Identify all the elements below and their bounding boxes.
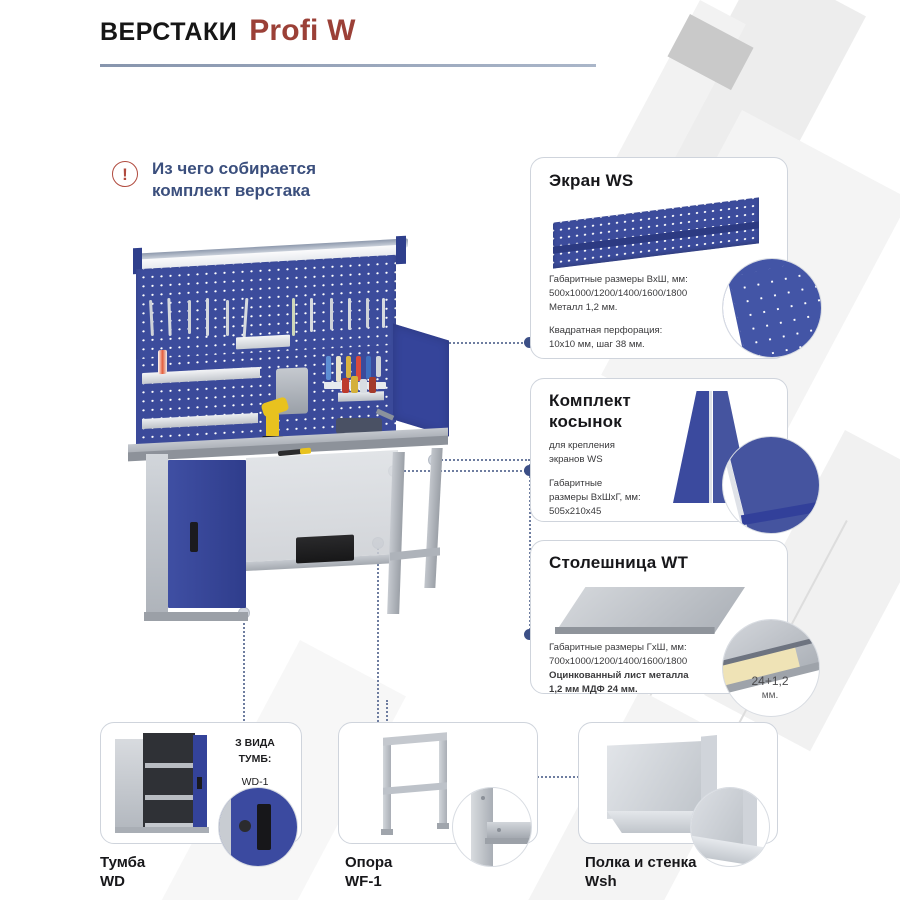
- page-header: ВЕРСТАКИ Profi W: [100, 14, 356, 48]
- spec-line: Габаритные размеры ВхШ, мм:: [549, 273, 688, 287]
- leg-joint-detail-circle: [452, 787, 532, 867]
- spec-line: размеры ВхШхГ, мм:: [549, 491, 641, 505]
- spec-line: 10х10 мм, шаг 38 мм.: [549, 338, 688, 352]
- leg-label-line1: Опора: [345, 854, 392, 873]
- shelf-label-line2: Wsh: [585, 873, 696, 892]
- spec-line: для крепления: [549, 439, 615, 453]
- worktop-detail-caption-2: мм.: [722, 690, 818, 701]
- page-title-main: ВЕРСТАКИ: [100, 18, 237, 47]
- workbench-illustration: [128, 240, 458, 670]
- bench-cabinet-lock: [190, 522, 198, 552]
- section-heading-line1: Из чего собирается: [152, 158, 316, 180]
- cabinet-illustration: [115, 733, 221, 833]
- tool-case: [296, 534, 354, 563]
- tool-screwdriver-handle: [300, 448, 311, 455]
- tool-bottles: [342, 376, 382, 394]
- perforated-panel-side: [393, 323, 449, 436]
- bracket-detail-circle: [722, 436, 820, 534]
- cabinet-lock-detail-circle: [218, 787, 298, 867]
- bench-cabinet-door: [168, 460, 246, 608]
- leg-label-line2: WF-1: [345, 873, 392, 892]
- section-heading: ! Из чего собирается комплект верстака: [112, 158, 316, 203]
- header-divider: [100, 64, 596, 67]
- cabinet-note-title-2: ТУМБ:: [219, 751, 291, 767]
- shelf-label-line1: Полка и стенка: [585, 854, 696, 873]
- card-bracket-specs-b: Габаритные размеры ВхШхГ, мм: 505х210х45: [549, 477, 641, 519]
- shelf-detail-circle: [690, 787, 770, 867]
- card-screen-ws-title: Экран WS: [549, 171, 633, 191]
- spec-line: 505х210х45: [549, 505, 641, 519]
- cabinet-label: Тумба WD: [100, 854, 145, 892]
- worktop-detail-circle: [722, 619, 820, 717]
- worktop-illustration: [555, 583, 751, 639]
- spec-line: экранов WS: [549, 453, 615, 467]
- spec-line: 1,2 мм МДФ 24 мм.: [549, 683, 689, 697]
- screen-ws-detail-circle: [722, 258, 822, 358]
- spec-line: Габаритные размеры ГхШ, мм:: [549, 641, 687, 655]
- worktop-detail-caption-1: 24+1,2: [722, 674, 818, 688]
- card-worktop-specs-a: Габаритные размеры ГхШ, мм: 700х1000/120…: [549, 641, 687, 669]
- card-screen-ws-specs: Габаритные размеры ВхШ, мм: 500х1000/120…: [549, 273, 688, 352]
- tool-spray-can: [158, 350, 167, 374]
- bench-leg-back: [424, 448, 442, 588]
- card-bracket-title-1: Комплект: [549, 391, 631, 411]
- screen-ws-illustration: [553, 202, 767, 264]
- exclamation-circle-icon: !: [112, 161, 138, 187]
- spec-line: 500х1000/1200/1400/1600/1800: [549, 287, 688, 301]
- spec-line: 700х1000/1200/1400/1600/1800: [549, 655, 687, 669]
- card-worktop-title: Столешница WT: [549, 553, 688, 573]
- section-heading-text: Из чего собирается комплект верстака: [152, 158, 316, 203]
- leg-label: Опора WF-1: [345, 854, 392, 892]
- title-row: ВЕРСТАКИ Profi W: [100, 14, 356, 48]
- cabinet-label-line1: Тумба: [100, 854, 145, 873]
- cabinet-label-line2: WD: [100, 873, 145, 892]
- spec-line: Металл 1,2 мм.: [549, 301, 688, 315]
- page-title-accent: Profi W: [249, 14, 355, 48]
- infographic-page: ВЕРСТАКИ Profi W ! Из чего собирается ко…: [0, 0, 900, 900]
- section-heading-line2: комплект верстака: [152, 180, 316, 202]
- tool-wrenches-row: [144, 298, 394, 340]
- bench-lamp-arm-right: [396, 236, 406, 265]
- spec-line: Габаритные: [549, 477, 641, 491]
- bench-cabinet-base: [144, 612, 248, 621]
- card-worktop-specs-b: Оцинкованный лист металла 1,2 мм МДФ 24 …: [549, 669, 689, 697]
- cabinet-note-title-1: З ВИДА: [219, 735, 291, 751]
- shelf-label: Полка и стенка Wsh: [585, 854, 696, 892]
- spec-line: Квадратная перфорация:: [549, 324, 688, 338]
- bench-cabinet-side: [146, 454, 168, 616]
- spec-line: Оцинкованный лист металла: [549, 669, 689, 683]
- card-bracket-specs-a: для крепления экранов WS: [549, 439, 615, 467]
- card-bracket-title-2: косынок: [549, 412, 622, 432]
